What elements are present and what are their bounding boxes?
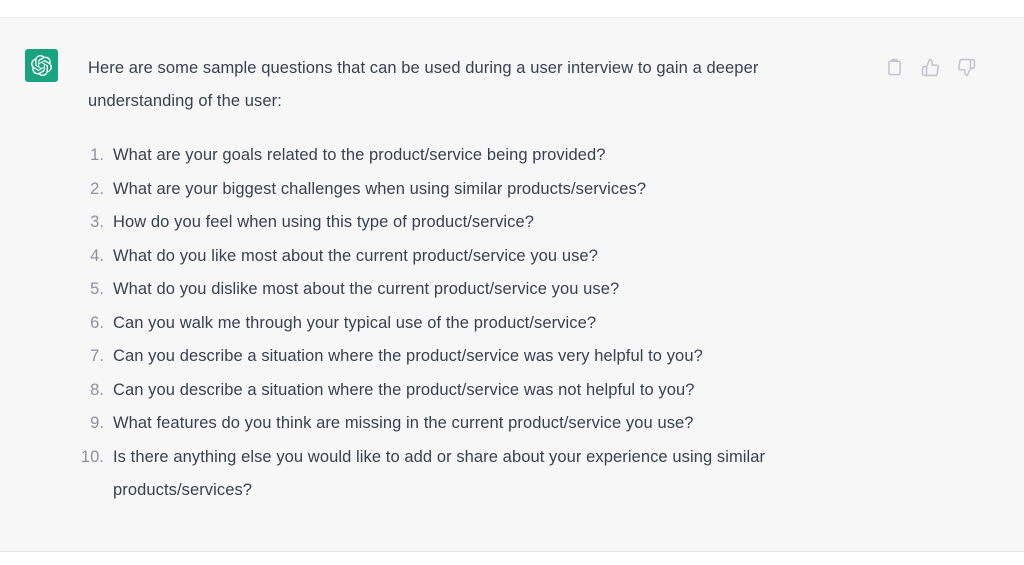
list-item: 8. Can you describe a situation where th… [88,374,878,408]
list-item-number: 8. [70,374,104,408]
list-item-text: Can you walk me through your typical use… [113,307,878,341]
thumbs-down-button[interactable] [955,56,977,78]
message-inner: Here are some sample questions that can … [0,18,1024,551]
list-item-text: What are your goals related to the produ… [113,139,878,173]
thumbs-up-icon [921,58,940,77]
list-item: 2. What are your biggest challenges when… [88,173,878,207]
questions-list: 1. What are your goals related to the pr… [88,139,878,508]
list-item: 6. Can you walk me through your typical … [88,307,878,341]
message-actions [883,56,977,78]
list-item: 7. Can you describe a situation where th… [88,340,878,374]
list-item-number: 5. [70,273,104,307]
list-item: 10. Is there anything else you would lik… [88,441,878,508]
list-item: 3. How do you feel when using this type … [88,206,878,240]
list-item-text: What do you dislike most about the curre… [113,273,878,307]
list-item-text: Can you describe a situation where the p… [113,374,878,408]
message-content: Here are some sample questions that can … [88,52,878,508]
intro-paragraph: Here are some sample questions that can … [88,52,858,118]
list-item-number: 2. [70,173,104,207]
list-item: 5. What do you dislike most about the cu… [88,273,878,307]
list-item-text: What are your biggest challenges when us… [113,173,878,207]
list-item-text: Can you describe a situation where the p… [113,340,878,374]
copy-button[interactable] [883,56,905,78]
thumbs-down-icon [957,58,976,77]
list-item: 9. What features do you think are missin… [88,407,878,441]
thumbs-up-button[interactable] [919,56,941,78]
assistant-avatar [25,49,58,82]
list-item-number: 10. [70,441,104,475]
list-item: 4. What do you like most about the curre… [88,240,878,274]
list-item-text: What do you like most about the current … [113,240,878,274]
list-item-number: 1. [70,139,104,173]
list-item-number: 4. [70,240,104,274]
assistant-message-row: Here are some sample questions that can … [0,17,1024,552]
openai-logo-icon [31,55,52,76]
list-item-number: 3. [70,206,104,240]
list-item-number: 7. [70,340,104,374]
page-root: Here are some sample questions that can … [0,0,1024,565]
list-item-text: Is there anything else you would like to… [113,441,878,508]
list-item-number: 6. [70,307,104,341]
list-item-text: How do you feel when using this type of … [113,206,878,240]
list-item: 1. What are your goals related to the pr… [88,139,878,173]
list-item-number: 9. [70,407,104,441]
copy-icon [885,58,904,77]
list-item-text: What features do you think are missing i… [113,407,878,441]
